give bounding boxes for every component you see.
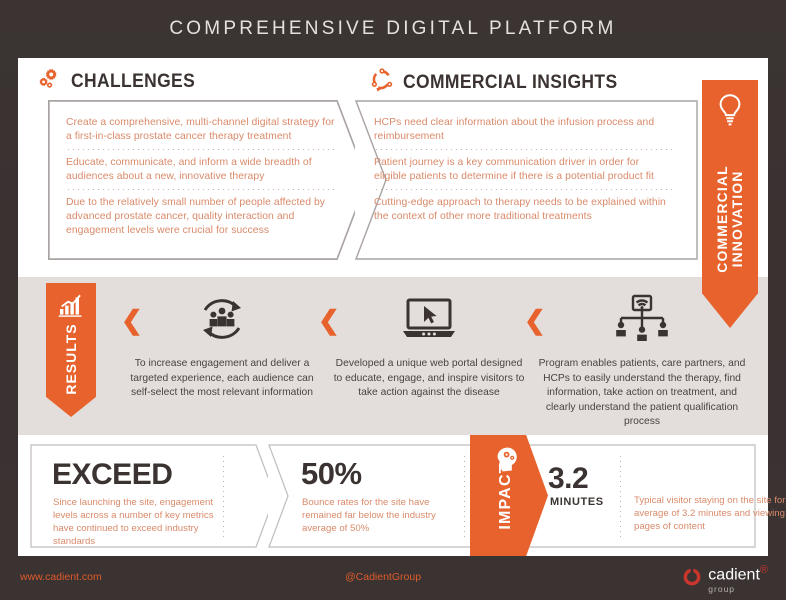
title-band: COMPREHENSIVE DIGITAL PLATFORM [0,0,786,58]
bar-chart-icon [46,293,96,317]
insights-header: COMMERCIAL INSIGHTS [370,68,636,97]
innovation-banner-label: COMMERCIAL INNOVATION [715,165,745,272]
results-band: RESULTS ❮ ❮ ❮ [18,277,768,435]
dotted-separator [66,149,336,150]
impact-region: EXCEED Since launching the site, engagem… [18,435,768,556]
dotted-divider [223,454,224,538]
results-banner-label: RESULTS [63,324,79,395]
impact-value: 3.2 [548,462,588,496]
banner-line2: INNOVATION [729,170,745,267]
result-text: Program enables patients, care partners,… [536,357,748,430]
impact-value: 50% [301,456,362,492]
logo-name: cadient [708,566,760,583]
lightbulb-icon [702,92,758,130]
bullet-item: Create a comprehensive, multi-channel di… [66,116,336,144]
impact-value: EXCEED [52,458,172,492]
laptop-cursor-icon [331,291,527,347]
dotted-separator [374,149,674,150]
result-column: Program enables patients, care partners,… [536,291,748,430]
footer: www.cadient.com @CadientGroup cadient® g… [0,556,786,600]
impact-text: Bounce rates for the site have remained … [302,496,454,535]
page-title: COMPREHENSIVE DIGITAL PLATFORM [169,18,616,40]
challenges-header: CHALLENGES [38,68,206,95]
footer-social-handle[interactable]: @CadientGroup [345,571,421,583]
dotted-divider [464,454,465,538]
logo-subtext: group [708,584,768,594]
cadient-mark-icon [682,567,702,592]
bullet-item: HCPs need clear information about the in… [374,116,674,144]
dotted-divider [620,454,621,538]
challenges-title: CHALLENGES [71,71,195,93]
infographic-page: COMPREHENSIVE DIGITAL PLATFORM [0,0,786,600]
dotted-separator [374,189,674,190]
insights-bullets: HCPs need clear information about the in… [374,116,674,224]
bullet-item: Cutting-edge approach to therapy needs t… [374,196,674,224]
bullet-item: Patient journey is a key communication d… [374,156,674,184]
result-text: Developed a unique web portal designed t… [331,357,527,401]
impact-banner-label: IMPACT [497,462,515,529]
insights-title: COMMERCIAL INSIGHTS [403,72,618,94]
dotted-separator [66,189,336,190]
gears-icon [38,68,62,95]
result-column: To increase engagement and deliver a tar… [122,291,322,401]
impact-card-minutes: 3.2 MINUTES [512,444,756,548]
impact-text: Typical visitor staying on the site for … [634,494,786,533]
top-region: CHALLENGES [18,58,768,277]
network-nodes-icon [370,68,394,97]
impact-card-exceed: EXCEED Since launching the site, engagem… [30,444,276,548]
audience-cycle-icon [122,291,322,347]
impact-text: Since launching the site, engagement lev… [53,496,215,548]
result-text: To increase engagement and deliver a tar… [122,357,322,401]
commercial-innovation-banner: COMMERCIAL INNOVATION [702,80,758,328]
banner-line1: COMMERCIAL [714,165,730,272]
bullet-item: Due to the relatively small number of pe… [66,196,336,238]
bullet-item: Educate, communicate, and inform a wide … [66,156,336,184]
challenges-bullets: Create a comprehensive, multi-channel di… [66,116,336,238]
cadient-logo: cadient® group [682,564,768,594]
impact-unit: MINUTES [550,496,604,508]
result-column: Developed a unique web portal designed t… [331,291,527,401]
results-banner: RESULTS [46,283,96,417]
main-panel: CHALLENGES [18,58,768,556]
footer-website-link[interactable]: www.cadient.com [20,571,102,583]
